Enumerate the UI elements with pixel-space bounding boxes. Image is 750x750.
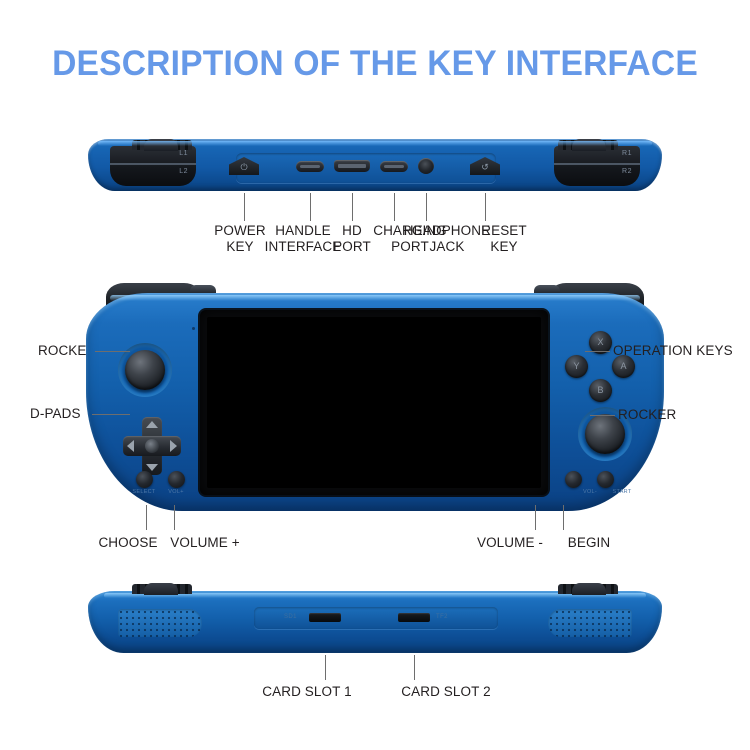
callout-left-rocker: ROCKE (38, 343, 87, 358)
page-title: DESCRIPTION OF THE KEY INTERFACE (15, 44, 735, 84)
callout-power-key-line2: KEY (214, 239, 266, 255)
callout-handle-interface-line1: HANDLE (265, 223, 342, 239)
charging-port[interactable] (380, 161, 408, 172)
start-button[interactable] (597, 471, 614, 488)
power-glyph: ⏻ (229, 162, 259, 172)
speaker-grille-left (118, 609, 202, 637)
leader-d-pads (92, 414, 130, 415)
callout-reset-key-line2: KEY (481, 239, 527, 255)
d-pad-down-icon[interactable] (146, 464, 158, 471)
button-b[interactable]: B (589, 379, 612, 402)
leader-hd-port (352, 193, 353, 221)
select-button-caption: SELECT (132, 489, 155, 495)
top-edge-view: L1 L2 R1 R2 ⏻ ↺ (88, 133, 662, 195)
card-slot-2-tag: TF2 (436, 614, 448, 620)
front-view-body: X Y A B SELECT VOL+ VOL- START (86, 293, 664, 511)
volume-up-button[interactable] (168, 471, 185, 488)
volume-up-button-caption: VOL+ (168, 489, 183, 495)
diagram-canvas: DESCRIPTION OF THE KEY INTERFACE L1 L2 R… (0, 0, 750, 750)
select-button[interactable] (136, 471, 153, 488)
shoulder-buttons-right: R1 R2 (554, 146, 640, 186)
leader-left-rocker (95, 351, 130, 352)
screen-bezel (200, 310, 548, 495)
leader-card-slot-2 (414, 655, 415, 680)
callout-card-slot-2: CARD SLOT 2 (401, 684, 490, 699)
bottom-edge-view: SD1 TF2 (88, 583, 662, 661)
shoulder-label-r1: R1 (622, 150, 632, 157)
top-view-body: L1 L2 R1 R2 ⏻ ↺ (88, 139, 662, 191)
callout-volume-plus: VOLUME + (170, 535, 239, 550)
joystick-nub-right (572, 139, 606, 151)
joystick-nub-left (144, 139, 178, 151)
start-button-caption: START (612, 489, 631, 495)
card-slot-2[interactable] (398, 613, 430, 622)
shoulder-divider-left (110, 163, 196, 165)
shoulder-label-l1: L1 (179, 150, 188, 157)
shoulder-label-l2: L2 (179, 168, 188, 175)
callout-reset-key: RESET KEY (481, 223, 527, 255)
leader-handle-interface (310, 193, 311, 221)
leader-operation-keys (585, 351, 610, 352)
shoulder-divider-right (554, 163, 640, 165)
indicator-led (192, 327, 195, 330)
shoulder-buttons-left: L1 L2 (110, 146, 196, 186)
callout-hd-port-line2: PORT (333, 239, 371, 255)
callout-headphone-jack-line2: JACK (404, 239, 490, 255)
callout-choose: CHOOSE (98, 535, 157, 550)
shoulder-label-r2: R2 (622, 168, 632, 175)
callout-card-slot-1: CARD SLOT 1 (262, 684, 351, 699)
leader-reset-key (485, 193, 486, 221)
d-pad[interactable] (123, 417, 181, 475)
leader-begin (563, 505, 564, 530)
leader-card-slot-1 (325, 655, 326, 680)
callout-headphone-jack: HEADPHONE JACK (404, 223, 490, 255)
leader-headphone-jack (426, 193, 427, 221)
callout-hd-port: HD PORT (333, 223, 371, 255)
bottom-joystick-nub-left (144, 583, 178, 595)
speaker-grille-right (548, 609, 632, 637)
volume-down-button-caption: VOL- (583, 489, 597, 495)
callout-handle-interface-line2: INTERFACE (265, 239, 342, 255)
callout-headphone-jack-line1: HEADPHONE (404, 223, 490, 239)
leader-volume-minus (535, 505, 536, 530)
callout-power-key-line1: POWER (214, 223, 266, 239)
leader-right-rocker (590, 415, 615, 416)
headphone-jack[interactable] (418, 158, 434, 174)
callout-handle-interface: HANDLE INTERFACE (265, 223, 342, 255)
operation-keys-cluster: X Y A B (564, 331, 636, 403)
card-slot-1[interactable] (309, 613, 341, 622)
volume-down-button[interactable] (565, 471, 582, 488)
d-pad-up-icon[interactable] (146, 421, 158, 428)
button-y[interactable]: Y (565, 355, 588, 378)
d-pad-center (145, 439, 159, 453)
leader-volume-plus (174, 505, 175, 530)
d-pad-right-icon[interactable] (170, 440, 177, 452)
bottom-joystick-nub-right (572, 583, 606, 595)
callout-d-pads: D-PADS (30, 406, 81, 421)
leader-charging-port (394, 193, 395, 221)
front-view: X Y A B SELECT VOL+ VOL- START (86, 283, 664, 515)
reset-glyph: ↺ (470, 162, 500, 172)
callout-volume-minus: VOLUME - (477, 535, 543, 550)
d-pad-left-icon[interactable] (127, 440, 134, 452)
button-a[interactable]: A (612, 355, 635, 378)
callout-power-key: POWER KEY (214, 223, 266, 255)
callout-right-rocker: ROCKER (618, 407, 676, 422)
bottom-view-body: SD1 TF2 (88, 591, 662, 653)
callout-begin: BEGIN (568, 535, 611, 550)
callout-reset-key-line1: RESET (481, 223, 527, 239)
display-screen[interactable] (207, 317, 541, 488)
callout-operation-keys: OPERATION KEYS (613, 343, 733, 358)
handle-interface-port[interactable] (296, 161, 324, 172)
card-slot-1-tag: SD1 (284, 614, 297, 620)
leader-power-key (244, 193, 245, 221)
callout-hd-port-line1: HD (333, 223, 371, 239)
hd-port[interactable] (334, 160, 370, 172)
leader-choose (146, 505, 147, 530)
